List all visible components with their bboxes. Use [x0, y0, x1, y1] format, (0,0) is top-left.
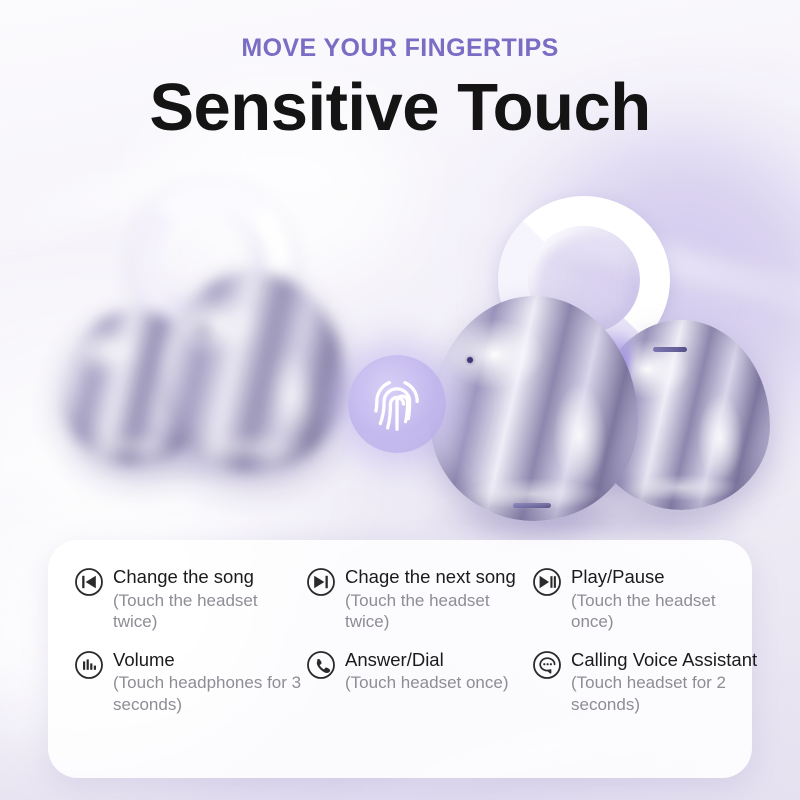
feature-item: Volume (Touch headphones for 3 seconds): [74, 649, 306, 716]
feature-text: Calling Voice Assistant (Touch headset f…: [571, 649, 757, 716]
feature-text: Change the song (Touch the headset twice…: [113, 566, 306, 633]
feature-text: Volume (Touch headphones for 3 seconds): [113, 649, 306, 716]
feature-text: Answer/Dial (Touch headset once): [345, 649, 509, 694]
eyebrow-text: MOVE YOUR FINGERTIPS: [0, 36, 800, 61]
feature-text: Chage the next song (Touch the headset t…: [345, 566, 532, 633]
feature-item: Calling Voice Assistant (Touch headset f…: [532, 649, 757, 716]
feature-label: Change the song: [113, 566, 306, 588]
feature-label: Calling Voice Assistant: [571, 649, 757, 671]
feature-item: Change the song (Touch the headset twice…: [74, 566, 306, 633]
fingerprint-touch-badge: [348, 355, 446, 453]
speaker-slot: [513, 503, 551, 508]
feature-sub: (Touch headphones for 3 seconds): [113, 672, 306, 715]
feature-sub: (Touch headset for 2 seconds): [571, 672, 757, 715]
feature-sub: (Touch the headset twice): [113, 590, 306, 633]
fingerprint-icon: [371, 375, 423, 433]
phone-icon: [306, 650, 336, 680]
mic-hole: [201, 328, 207, 334]
feature-sub: (Touch the headset twice): [345, 590, 532, 633]
feature-sub: (Touch headset once): [345, 672, 509, 693]
play-pause-icon: [532, 567, 562, 597]
feature-text: Play/Pause (Touch the headset once): [571, 566, 757, 633]
volume-icon: [74, 650, 104, 680]
next-track-icon: [306, 567, 336, 597]
feature-item: Chage the next song (Touch the headset t…: [306, 566, 532, 633]
header-block: MOVE YOUR FINGERTIPS Sensitive Touch: [0, 36, 800, 143]
speaker-slot: [653, 347, 687, 352]
feature-label: Answer/Dial: [345, 649, 509, 671]
page-title: Sensitive Touch: [0, 73, 800, 143]
feature-label: Play/Pause: [571, 566, 757, 588]
earbud-body: [160, 272, 345, 472]
feature-label: Chage the next song: [345, 566, 532, 588]
feature-grid: Change the song (Touch the headset twice…: [74, 566, 730, 715]
feature-item: Play/Pause (Touch the headset once): [532, 566, 757, 633]
previous-track-icon: [74, 567, 104, 597]
feature-label: Volume: [113, 649, 306, 671]
feature-sub: (Touch the headset once): [571, 590, 757, 633]
feature-item: Answer/Dial (Touch headset once): [306, 649, 532, 716]
touch-controls-card: Change the song (Touch the headset twice…: [48, 540, 752, 778]
voice-assistant-icon: [532, 650, 562, 680]
mic-hole: [467, 357, 473, 363]
